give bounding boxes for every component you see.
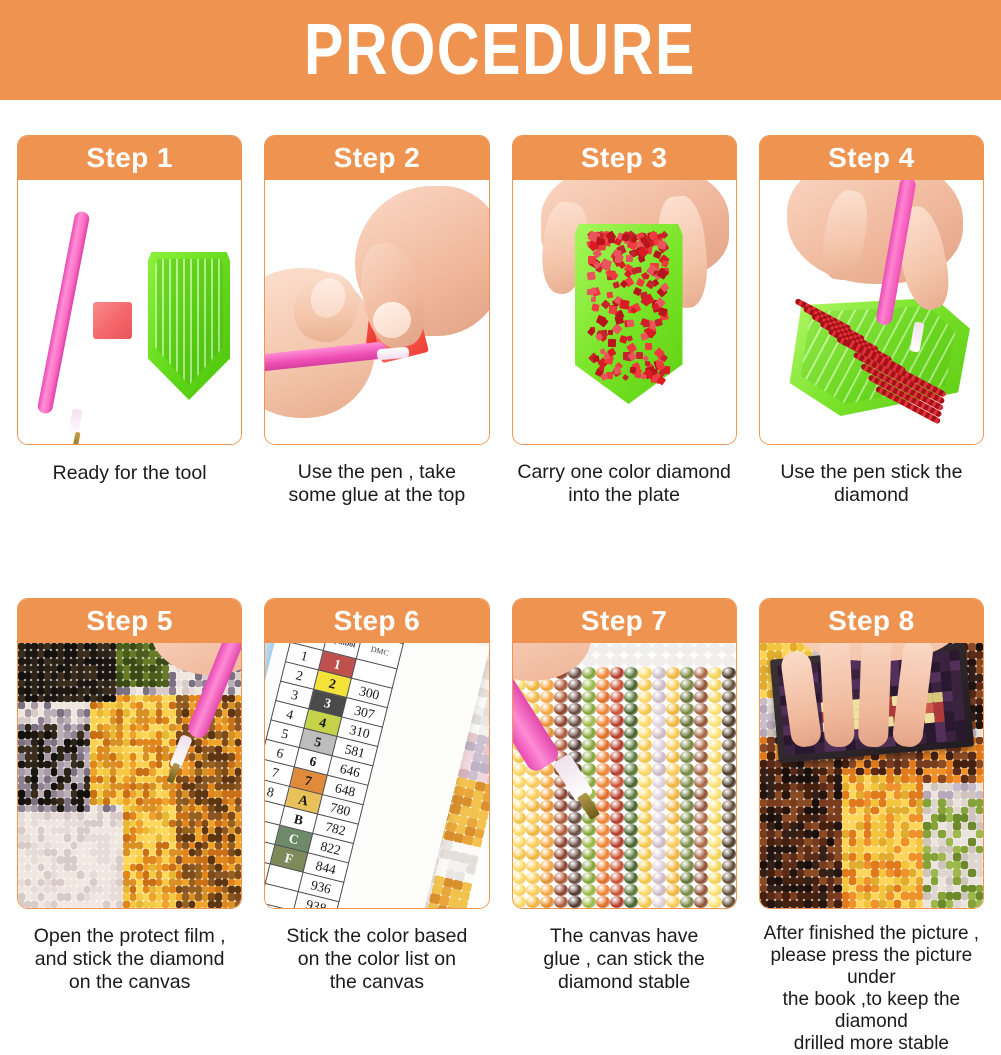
diamond-pixel [790,783,797,791]
step-image-1 [18,180,241,444]
diamond-pixel [18,879,25,886]
diamond-pixel [976,752,983,760]
diamond-pixel [582,715,596,727]
diamond-pixel [767,643,774,651]
diamond-pixel [44,702,51,709]
diamond-pixel [130,695,137,702]
diamond-pixel [976,791,983,799]
diamond-pixel [976,885,983,893]
diamond-pixel [77,798,84,805]
diamond-pixel [666,800,680,812]
diamond-pixel [767,877,774,885]
diamond-pixel [235,717,242,724]
diamond-pixel [18,901,25,908]
diamond-pixel [849,783,856,791]
diamond-pixel [666,884,680,896]
diamond-pixel [77,783,84,790]
diamond-pixel [97,665,104,672]
step-card-5[interactable]: Step 5 [17,598,242,909]
diamond-pixel [215,783,222,790]
diamond-pixel [228,783,235,790]
diamond-pixel [842,877,849,885]
step-header-8: Step 8 [760,599,983,643]
diamond-pixel [526,824,540,836]
diamond-pixel [909,861,916,869]
diamond-pixel [782,783,789,791]
step-card-1[interactable]: Step 1 [17,135,242,445]
diamond-pixel [156,842,163,849]
diamond-pixel [968,846,975,854]
diamond-pixel [760,853,767,861]
diamond-pixel [18,820,25,827]
diamond-pixel [842,861,849,869]
diamond-pixel [64,680,71,687]
diamond-pixel [916,768,923,776]
diamond-pixel [931,838,938,846]
diamond-pixel [57,879,64,886]
diamond-pixel [596,800,610,812]
diamond-pixel [568,691,582,703]
diamond-pixel [215,812,222,819]
diamond-pixel [708,884,722,896]
diamond-pixel [775,869,782,877]
diamond-pixel [123,856,130,863]
diamond-pixel [130,687,137,694]
diamond-pixel [666,751,680,763]
diamond-pixel [71,901,78,908]
step-cell-8: Step 8 After finished the picture ,pleas… [759,598,984,1055]
diamond-pixel [856,799,863,807]
diamond-pixel [976,744,983,752]
diamond-pixel [827,846,834,854]
diamond-pixel [208,798,215,805]
diamond-pixel [596,679,610,691]
diamond-pixel [819,760,826,768]
diamond-pixel [923,846,930,854]
diamond-pixel [849,892,856,900]
diamond-pixel [708,655,722,667]
diamond-pixel [64,717,71,724]
diamond-pixel [208,834,215,841]
diamond-pixel [136,746,143,753]
diamond-pixel [182,680,189,687]
diamond-pixel [694,812,708,824]
diamond-pixel [195,680,202,687]
diamond-pixel [149,650,156,657]
diamond-pixel [849,861,856,869]
diamond-pixel [819,885,826,893]
diamond-pixel [864,885,871,893]
diamond-pixel [57,842,64,849]
diamond-pixel [123,893,130,900]
diamond-pixel [182,717,189,724]
diamond-pixel [894,783,901,791]
diamond-pixel [638,836,652,848]
diamond-pixel [123,849,130,856]
diamond-pixel [90,709,97,716]
diamond-pixel [819,768,826,776]
diamond-pixel [680,763,694,775]
diamond-pixel [871,822,878,830]
diamond-pixel [909,760,916,768]
diamond-pixel [946,846,953,854]
step-card-7[interactable]: Step 7 [512,598,737,909]
diamond-pixel [215,790,222,797]
diamond-pixel [57,790,64,797]
diamond-bead [599,373,608,382]
diamond-pixel [961,783,968,791]
diamond-pixel [901,760,908,768]
diamond-pixel [195,879,202,886]
diamond-pixel [123,901,130,908]
diamond-pixel [812,807,819,815]
diamond-pixel [18,776,25,783]
diamond-pixel [64,893,71,900]
diamond-pixel [953,783,960,791]
diamond-pixel [97,871,104,878]
diamond-pixel [775,799,782,807]
diamond-pixel [149,672,156,679]
diamond-pixel [596,751,610,763]
diamond-pixel [968,651,975,659]
diamond-pixel [136,739,143,746]
diamond-pixel [812,892,819,900]
diamond-pixel [156,709,163,716]
diamond-pixel [18,834,25,841]
diamond-pixel [916,877,923,885]
diamond-pixel [554,848,568,860]
diamond-pixel [235,790,242,797]
diamond-pixel [156,687,163,694]
diamond-pixel [864,830,871,838]
diamond-pixel [235,864,242,871]
diamond-pixel [77,886,84,893]
diamond-pixel [156,798,163,805]
diamond-pixel [156,790,163,797]
diamond-pixel [228,761,235,768]
step-card-3[interactable]: Step 3 [512,135,737,445]
diamond-pixel [976,799,983,807]
diamond-pixel [916,838,923,846]
diamond-pixel [652,836,666,848]
diamond-pixel [953,760,960,768]
diamond-pixel [894,768,901,776]
diamond-pixel [57,761,64,768]
diamond-pixel [961,830,968,838]
diamond-pixel [797,822,804,830]
diamond-pixel [923,807,930,815]
diamond-pixel [103,680,110,687]
diamond-pixel [57,665,64,672]
diamond-pixel [938,799,945,807]
diamond-pixel [90,746,97,753]
diamond-pixel [149,886,156,893]
diamond-pixel [526,872,540,884]
diamond-pixel [708,800,722,812]
diamond-pixel [916,846,923,854]
diamond-pixel [819,830,826,838]
diamond-pixel [886,760,893,768]
diamond-pixel [760,791,767,799]
diamond-pixel [708,751,722,763]
diamond-pixel [18,643,25,650]
diamond-pixel [215,761,222,768]
step-card-4[interactable]: Step 4 [759,135,984,445]
diamond-pixel [31,783,38,790]
diamond-pixel [568,824,582,836]
diamond-pixel [708,836,722,848]
diamond-pixel [103,731,110,738]
diamond-pixel [57,702,64,709]
diamond-pixel [938,814,945,822]
steps-row-1: Step 1 Ready for the tool Step 2 [17,135,984,507]
diamond-pixel [909,791,916,799]
diamond-pixel [77,820,84,827]
diamond-pixel [130,776,137,783]
diamond-pixel [976,659,983,667]
diamond-pixel [968,799,975,807]
diamond-pixel [44,680,51,687]
diamond-pixel [894,900,901,908]
diamond-pixel [215,834,222,841]
diamond-pixel [879,838,886,846]
diamond-pixel [103,739,110,746]
diamond-pixel [18,658,25,665]
diamond-pixel [554,691,568,703]
diamond-pixel [149,849,156,856]
diamond-pixel [156,724,163,731]
step-card-8[interactable]: Step 8 [759,598,984,909]
diamond-pixel [18,709,25,716]
diamond-pixel [708,776,722,788]
diamond-pixel [169,812,176,819]
diamond-pixel [827,799,834,807]
diamond-pixel [760,885,767,893]
diamond-pixel [909,892,916,900]
step-card-2[interactable]: Step 2 [264,135,489,445]
diamond-pixel [44,672,51,679]
diamond-pixel [680,776,694,788]
step-card-6[interactable]: Step 6 SerialSymbolDMC112230033307443105… [264,598,489,909]
diamond-pixel [610,679,624,691]
diamond-pixel [169,886,176,893]
diamond-pixel [57,650,64,657]
diamond-pixel [812,830,819,838]
diamond-pixel [760,705,767,713]
diamond-pixel [827,838,834,846]
diamond-pixel [856,830,863,838]
diamond-pixel [103,658,110,665]
diamond-pixel [57,776,64,783]
diamond-pixel [708,703,722,715]
diamond-pixel [123,805,130,812]
diamond-pixel [228,893,235,900]
diamond-pixel [652,715,666,727]
diamond-pixel [968,666,975,674]
diamond-pixel [834,892,841,900]
diamond-pixel [968,783,975,791]
diamond-pixel [864,807,871,815]
diamond-pixel [156,879,163,886]
diamond-pixel [149,761,156,768]
diamond-pixel [680,655,694,667]
diamond-pixel [215,717,222,724]
diamond-pixel [961,760,968,768]
diamond-pixel [767,869,774,877]
diamond-pixel [215,886,222,893]
diamond-pixel [886,807,893,815]
diamond-pixel [554,836,568,848]
diamond-bead [645,343,652,350]
diamond-pixel [136,879,143,886]
diamond-pixel [596,691,610,703]
diamond-pixel [582,836,596,848]
diamond-pixel [57,695,64,702]
diamond-pixel [871,846,878,854]
diamond-pixel [540,860,554,872]
diamond-pixel [938,869,945,877]
diamond-pixel [901,752,908,760]
diamond-pixel [812,791,819,799]
diamond-pixel [610,643,624,655]
diamond-pixel [64,768,71,775]
diamond-pixel [90,849,97,856]
diamond-pixel [123,702,130,709]
diamond-pixel [652,655,666,667]
diamond-pixel [18,812,25,819]
diamond-pixel [953,799,960,807]
diamond-pixel [77,724,84,731]
diamond-pixel [235,812,242,819]
diamond-pixel [64,901,71,908]
diamond-pixel [123,739,130,746]
diamond-pixel [827,760,834,768]
diamond-pixel [71,849,78,856]
diamond-pixel [680,884,694,896]
diamond-pixel [834,830,841,838]
diamond-pixel [169,790,176,797]
diamond-pixel [680,751,694,763]
diamond-pixel [149,753,156,760]
diamond-pixel [886,877,893,885]
page-title: PROCEDURE [304,12,696,88]
diamond-pixel [834,783,841,791]
diamond-pixel [64,643,71,650]
diamond-pixel [554,800,568,812]
diamond-pixel [864,814,871,822]
diamond-pixel [797,807,804,815]
diamond-pixel [722,727,736,739]
diamond-pixel [894,892,901,900]
diamond-pixel [44,650,51,657]
diamond-pixel [31,687,38,694]
diamond-pixel [864,853,871,861]
diamond-pixel [582,884,596,896]
diamond-pixel [901,768,908,776]
diamond-pixel [169,687,176,694]
diamond-pixel [760,744,767,752]
diamond-pixel [156,665,163,672]
diamond-pixel [64,864,71,871]
diamond-pixel [156,761,163,768]
step-header-4: Step 4 [760,136,983,180]
diamond-pixel [31,753,38,760]
diamond-pixel [123,643,130,650]
diamond-pixel [18,864,25,871]
diamond-pixel [946,768,953,776]
diamond-pixel [130,761,137,768]
step-header-7: Step 7 [513,599,736,643]
diamond-pixel [652,703,666,715]
diamond-pixel [90,702,97,709]
diamond-pixel [722,703,736,715]
diamond-pixel [708,860,722,872]
diamond-pixel [215,864,222,871]
diamond-pixel [77,702,84,709]
diamond-pixel [156,731,163,738]
diamond-pixel [64,871,71,878]
diamond-pixel [961,775,968,783]
diamond-pixel [208,901,215,908]
diamond-pixel [215,871,222,878]
diamond-pixel [819,822,826,830]
diamond-pixel [782,892,789,900]
diamond-pixel [64,650,71,657]
diamond-pixel [156,680,163,687]
diamond-pixel [169,856,176,863]
diamond-pixel [961,861,968,869]
diamond-pixel [624,812,638,824]
diamond-pixel [228,842,235,849]
diamond-pixel [136,856,143,863]
diamond-pixel [130,849,137,856]
diamond-pixel [849,838,856,846]
diamond-pixel [782,900,789,908]
diamond-pixel [961,885,968,893]
diamond-pixel [540,836,554,848]
diamond-pixel [694,703,708,715]
diamond-pixel [797,853,804,861]
diamond-pixel [582,751,596,763]
diamond-pixel [879,885,886,893]
diamond-pixel [968,807,975,815]
diamond-pixel [976,861,983,869]
diamond-pixel [894,807,901,815]
diamond-pixel [130,820,137,827]
diamond-pixel [901,822,908,830]
diamond-pixel [208,864,215,871]
diamond-pixel [923,869,930,877]
diamond-pixel [909,877,916,885]
diamond-pixel [610,860,624,872]
diamond-pixel [182,709,189,716]
diamond-pixel [961,838,968,846]
diamond-pixel [31,680,38,687]
diamond-pixel [57,834,64,841]
diamond-pixel [624,872,638,884]
diamond-pixel [842,783,849,791]
diamond-pixel [149,864,156,871]
diamond-pixel [827,900,834,908]
diamond-pixel [526,776,540,788]
diamond-pixel [976,783,983,791]
diamond-pixel [44,856,51,863]
diamond-pixel [834,768,841,776]
diamond-pixel [31,798,38,805]
diamond-pixel [708,727,722,739]
diamond-pixel [722,860,736,872]
diamond-pixel [57,901,64,908]
